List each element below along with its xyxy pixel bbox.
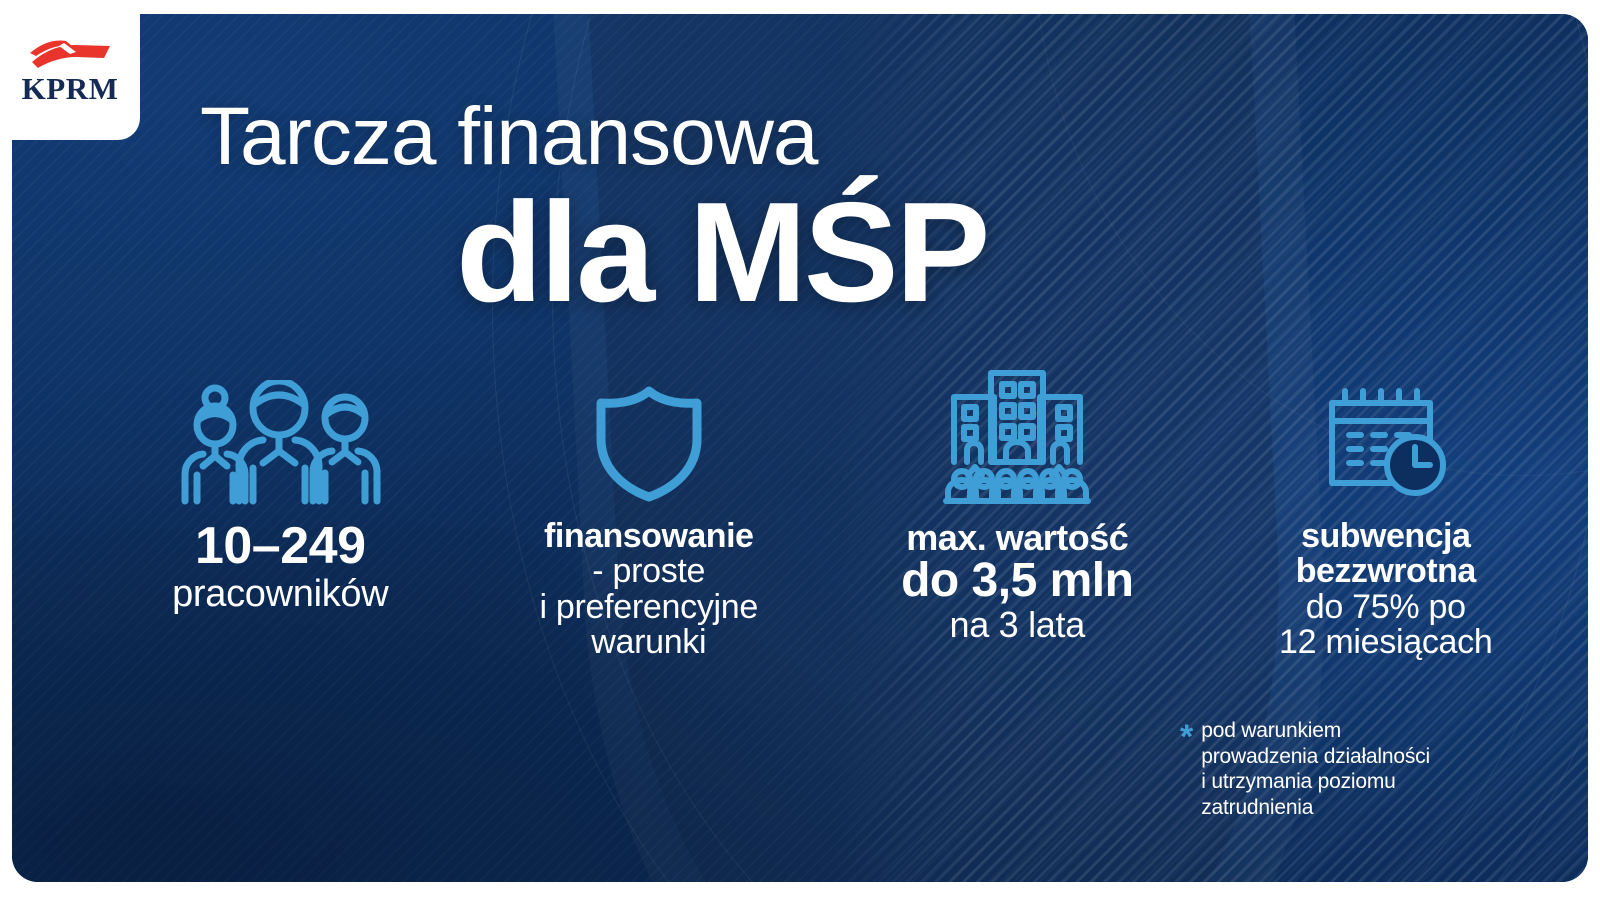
kprm-logo-text: KPRM [22, 73, 119, 104]
footnote-line: zatrudnienia [1201, 795, 1430, 821]
title-block: Tarcza finansowa dla MŚP [200, 96, 987, 321]
feature-line: do 75% po [1279, 590, 1492, 625]
feature-line: do 3,5 mln [901, 556, 1133, 606]
feature-text-financing: finansowanie - proste i preferencyjne wa… [539, 519, 758, 660]
page-title-line-1: Tarcza finansowa [200, 96, 987, 178]
footnote-line: prowadzenia działalności [1201, 744, 1430, 770]
feature-column-financing: finansowanie - proste i preferencyjne wa… [465, 375, 834, 705]
feature-line: 10–249 [172, 519, 388, 573]
asterisk-icon: * [1180, 720, 1193, 820]
feature-line: 12 miesiącach [1279, 625, 1492, 660]
feature-text-employees: 10–249 pracowników [172, 519, 388, 615]
feature-column-subsidy: subwencja bezzwrotna do 75% po 12 miesią… [1202, 375, 1571, 705]
page-title-line-2: dla MŚP [456, 186, 987, 321]
calendar-clock-icon [1321, 375, 1451, 505]
shield-icon [588, 375, 710, 505]
feature-line: max. wartość [901, 519, 1133, 556]
feature-line: bezzwrotna [1279, 554, 1492, 589]
footnote-text: pod warunkiem prowadzenia działalności i… [1201, 718, 1430, 820]
feature-line: warunki [539, 625, 758, 660]
feature-line: na 3 lata [901, 606, 1133, 643]
feature-line: i preferencyjne [539, 590, 758, 625]
kprm-logo-card: KPRM [0, 0, 140, 140]
feature-text-max-value: max. wartość do 3,5 mln na 3 lata [901, 519, 1133, 644]
footnote: * pod warunkiem prowadzenia działalności… [1180, 718, 1510, 820]
feature-line: finansowanie [539, 519, 758, 554]
feature-column-max-value: max. wartość do 3,5 mln na 3 lata [833, 375, 1202, 705]
three-people-icon [173, 375, 387, 505]
feature-line: - proste [539, 554, 758, 589]
infographic-stage: KPRM Tarcza finansowa dla MŚP [0, 0, 1600, 900]
polish-flag-eagle-mark-icon [26, 37, 114, 71]
feature-line: subwencja [1279, 519, 1492, 554]
footnote-line: pod warunkiem [1201, 718, 1430, 744]
buildings-with-people-icon [937, 375, 1097, 505]
feature-columns: 10–249 pracowników finansowanie - proste… [96, 375, 1570, 705]
footnote-line: i utrzymania poziomu [1201, 769, 1430, 795]
feature-text-subsidy: subwencja bezzwrotna do 75% po 12 miesią… [1279, 519, 1492, 660]
feature-column-employees: 10–249 pracowników [96, 375, 465, 705]
feature-line: pracowników [172, 575, 388, 615]
